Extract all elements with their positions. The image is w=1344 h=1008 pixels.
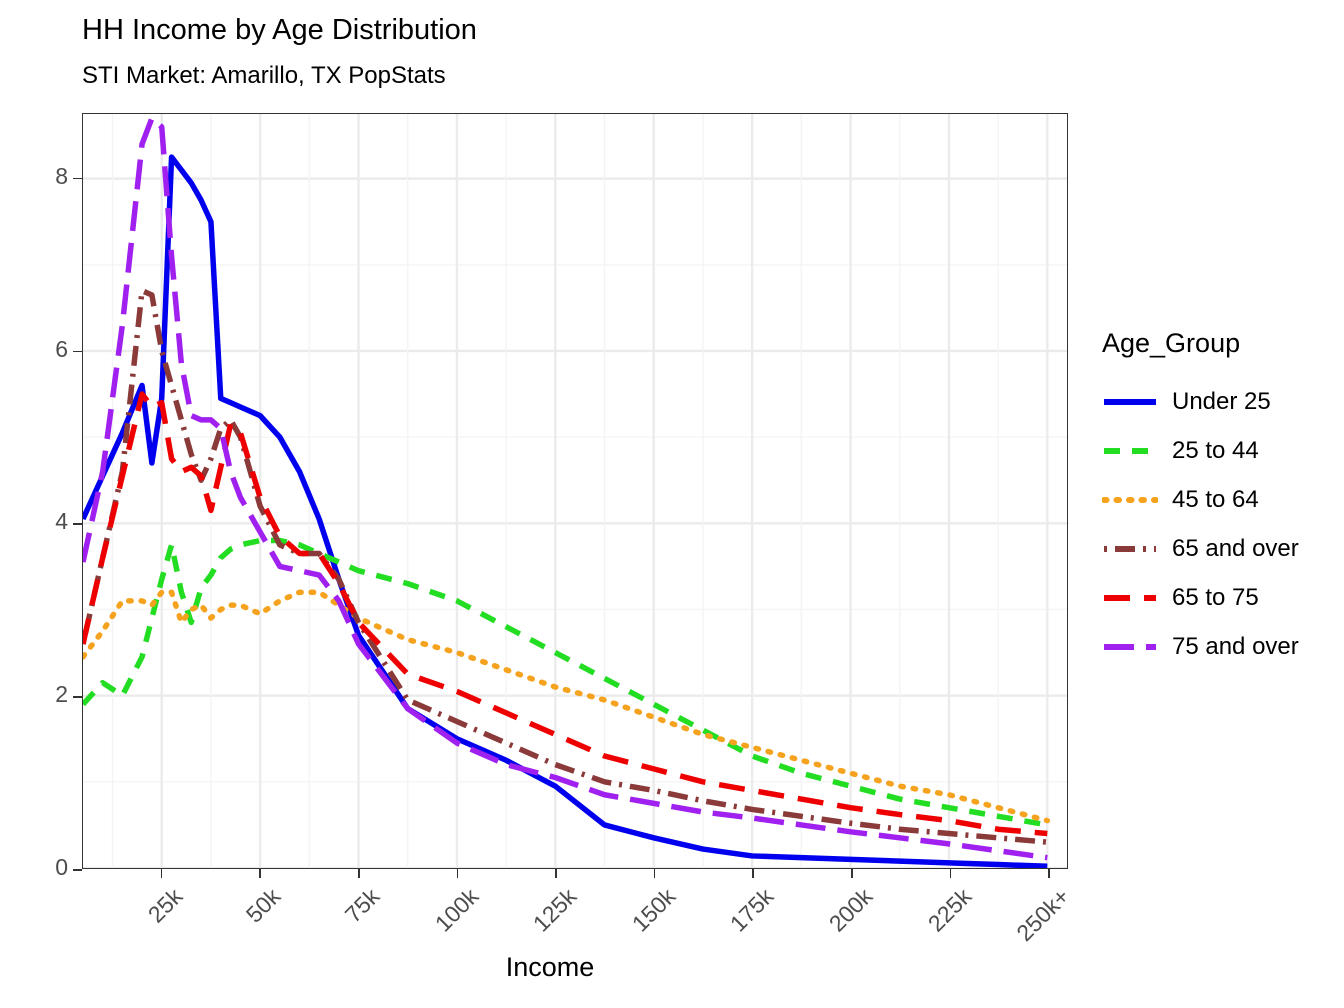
legend-key-dashed-icon	[1102, 440, 1158, 462]
y-tick-label: 8	[55, 163, 68, 190]
legend: Age_Group Under 2525 to 4445 to 6465 and…	[1102, 328, 1344, 671]
legend-label: 75 and over	[1172, 633, 1299, 661]
y-tick-label: 4	[55, 508, 68, 535]
legend-label: 65 to 75	[1172, 584, 1259, 612]
x-tick-mark	[457, 869, 459, 878]
legend-key-dotted-icon	[1102, 489, 1158, 511]
y-tick-mark	[73, 523, 82, 525]
legend-key-solid-icon	[1102, 391, 1158, 413]
legend-item[interactable]: Under 25	[1102, 377, 1344, 426]
legend-label: 25 to 44	[1172, 437, 1259, 465]
legend-items: Under 2525 to 4445 to 6465 and over65 to…	[1102, 377, 1344, 671]
legend-item[interactable]: 65 and over	[1102, 524, 1344, 573]
x-tick-mark	[851, 869, 853, 878]
legend-title: Age_Group	[1102, 328, 1344, 359]
x-tick-mark	[654, 869, 656, 878]
x-tick-mark	[950, 869, 952, 878]
x-tick-mark	[259, 869, 261, 878]
x-tick-mark	[752, 869, 754, 878]
series-line-3	[83, 291, 1047, 842]
series-line-0	[83, 157, 1047, 866]
legend-item[interactable]: 45 to 64	[1102, 475, 1344, 524]
legend-item[interactable]: 25 to 44	[1102, 426, 1344, 475]
legend-item[interactable]: 65 to 75	[1102, 573, 1344, 622]
x-tick-mark	[358, 869, 360, 878]
y-tick-label: 2	[55, 681, 68, 708]
x-tick-mark	[555, 869, 557, 878]
series-line-5	[83, 118, 1047, 857]
y-tick-mark	[73, 696, 82, 698]
legend-label: 45 to 64	[1172, 486, 1259, 514]
x-axis-label: Income	[0, 952, 1100, 983]
legend-key-twodash-icon	[1102, 636, 1158, 658]
x-tick-mark	[161, 869, 163, 878]
plot-panel	[82, 113, 1068, 869]
chart-root: HH Income by Age Distribution STI Market…	[0, 0, 1344, 1008]
y-tick-mark	[73, 869, 82, 871]
plot-svg	[83, 114, 1067, 868]
legend-label: Under 25	[1172, 388, 1271, 416]
y-tick-mark	[73, 178, 82, 180]
legend-label: 65 and over	[1172, 535, 1299, 563]
y-tick-mark	[73, 351, 82, 353]
chart-title: HH Income by Age Distribution	[82, 14, 477, 47]
x-tick-mark	[1048, 869, 1050, 878]
chart-subtitle: STI Market: Amarillo, TX PopStats	[82, 62, 446, 90]
y-tick-label: 0	[55, 854, 68, 881]
y-tick-label: 6	[55, 336, 68, 363]
legend-key-longdash-icon	[1102, 587, 1158, 609]
legend-item[interactable]: 75 and over	[1102, 622, 1344, 671]
series-line-2	[83, 592, 1047, 820]
legend-key-dotdash-icon	[1102, 538, 1158, 560]
